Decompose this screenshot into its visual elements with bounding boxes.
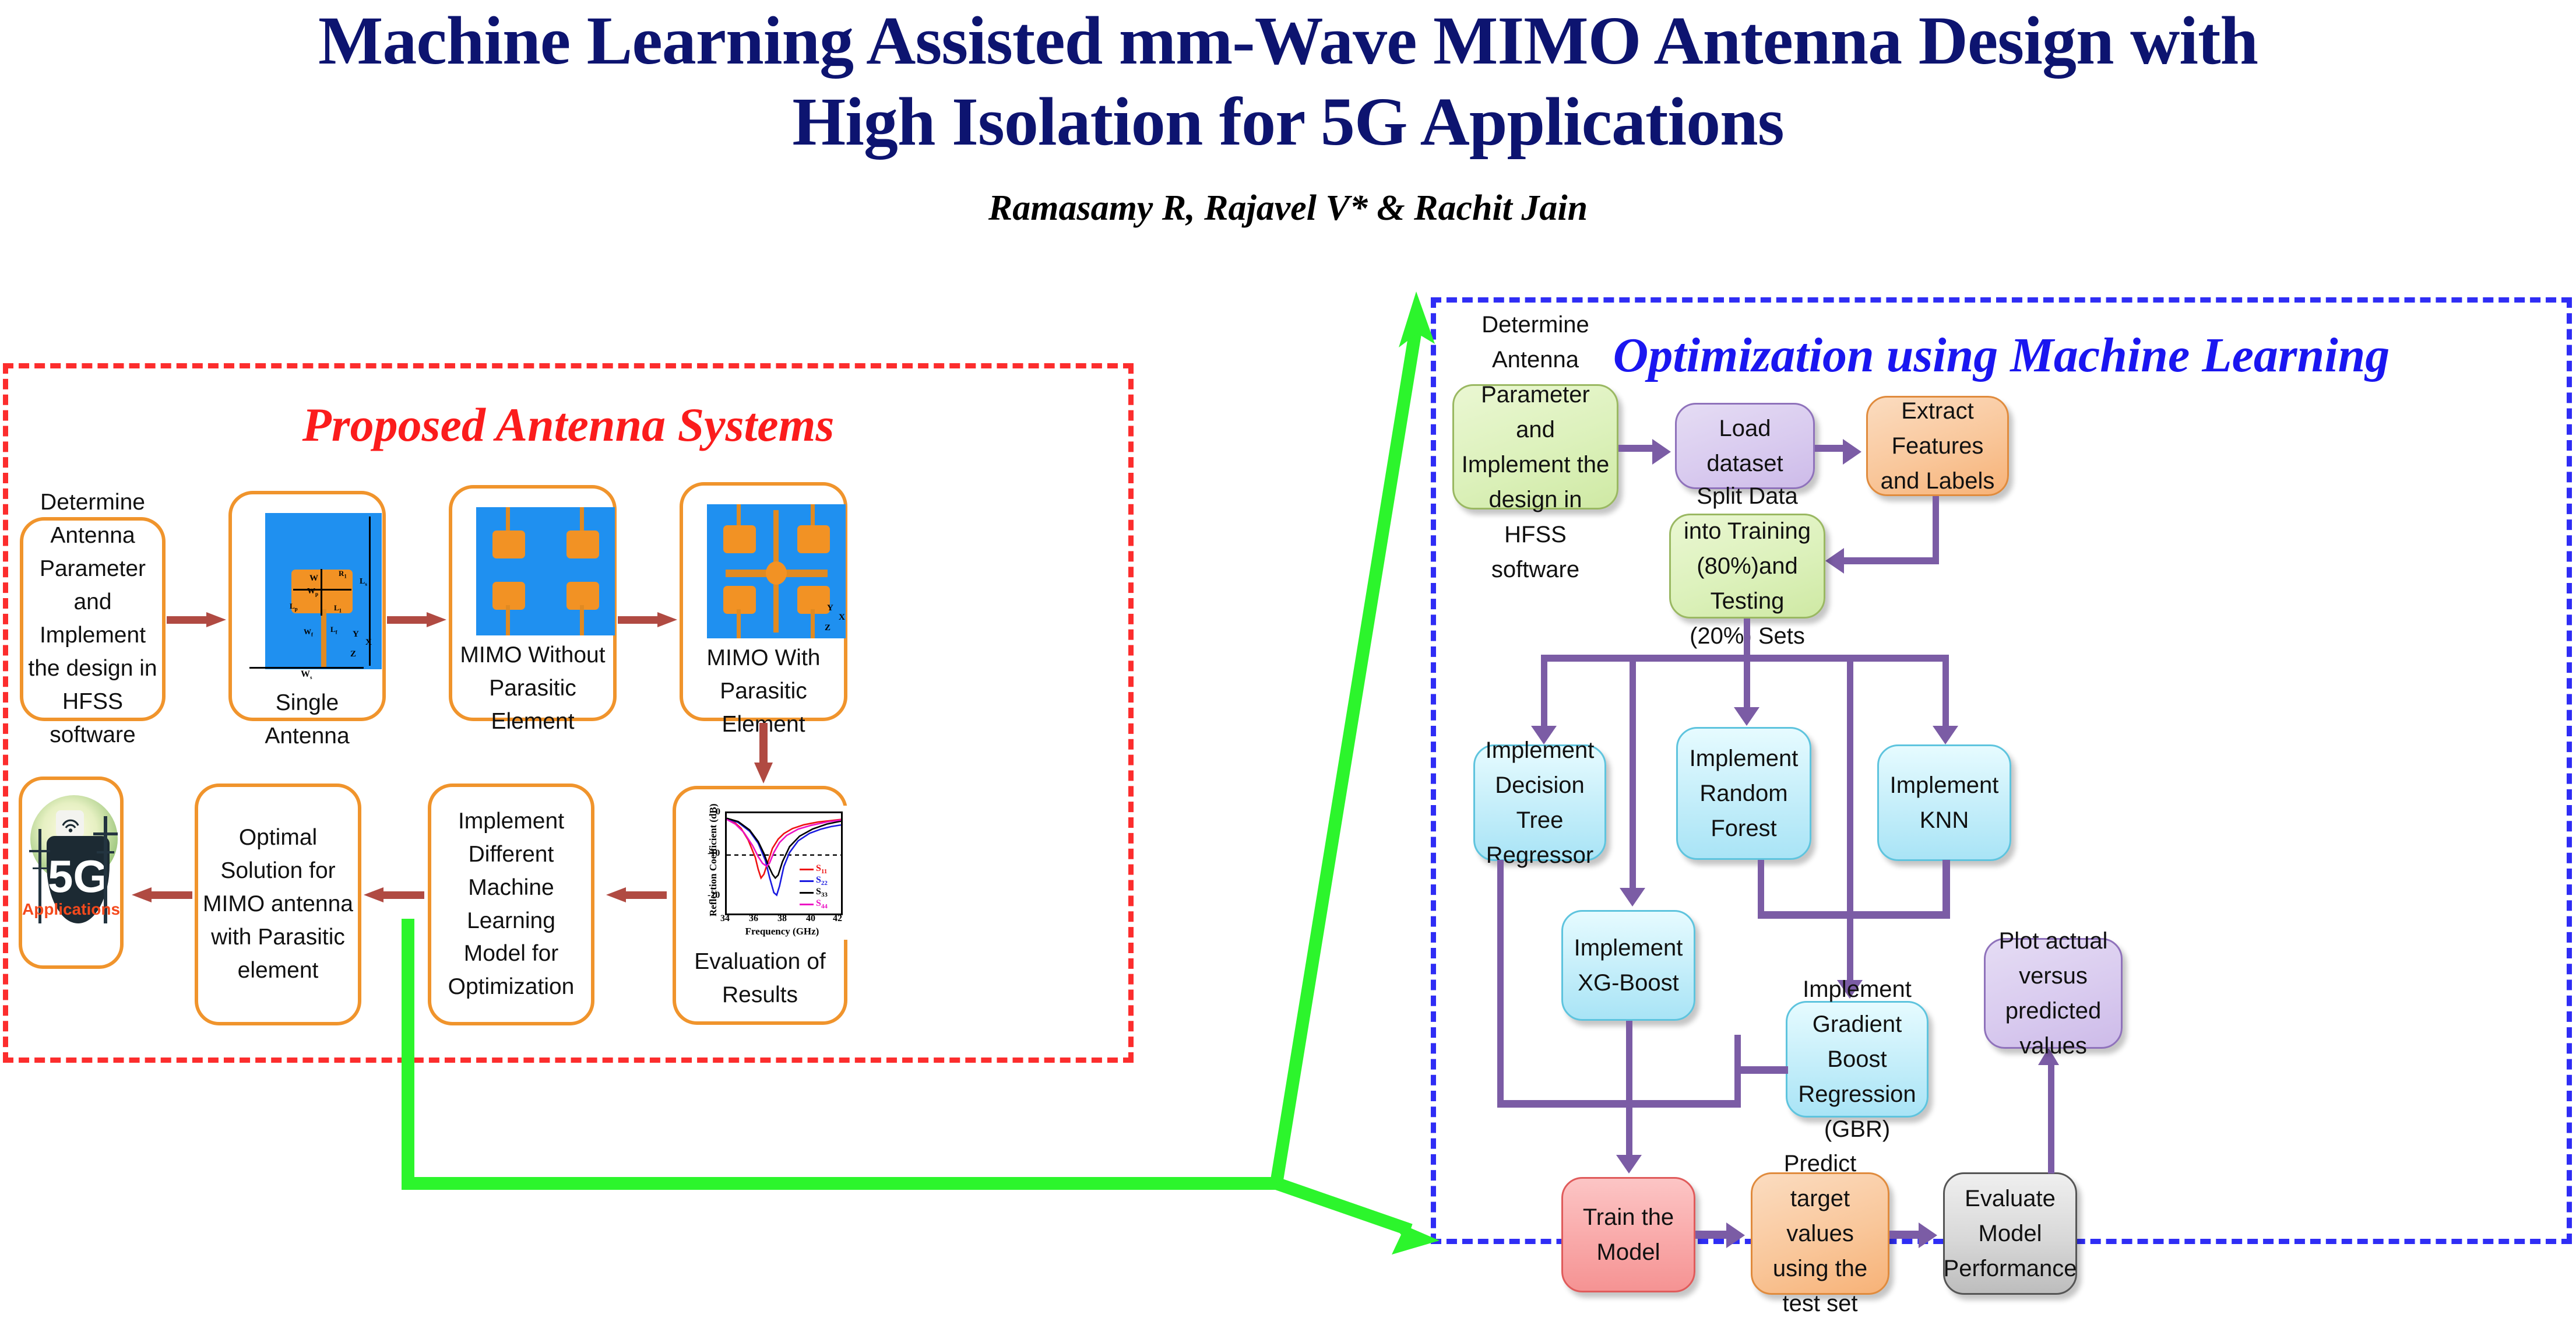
box-evaluation-of-results[interactable]: Reflection Coefficient (dB) Frequency (G… — [673, 786, 847, 1025]
title-line-2: High Isolation for 5G Applications — [0, 81, 2576, 162]
antenna-feedline — [321, 609, 326, 667]
legend-label-s33: S33 — [816, 887, 828, 898]
applications-text: Applications — [22, 900, 120, 919]
box-single-antenna[interactable]: W Wp R1 Lp L1 Wf Lf Ls Y X Z Ws Single A… — [228, 491, 386, 721]
box-determine-antenna[interactable]: Determine Antenna Parameter and Implemen… — [20, 517, 166, 721]
axis-label-x-2: X — [839, 613, 845, 623]
dim-label-w: W — [309, 574, 318, 584]
chart-ytick-m20: -20 — [708, 890, 720, 901]
chart-xtick-34: 34 — [720, 914, 730, 924]
dim-label-wp: Wp — [307, 587, 318, 597]
axis-label-z-2: Z — [825, 623, 830, 633]
box-gbr-label: Implement Gradient Boost Regression (GBR… — [1794, 972, 1920, 1147]
chart-xtick-38: 38 — [777, 914, 787, 924]
connector-rf-down — [1758, 860, 1764, 917]
connector-branch-gbr — [1847, 655, 1853, 983]
box-train-model-label: Train the Model — [1570, 1200, 1687, 1270]
arrow-to-train-model — [1616, 1155, 1642, 1174]
legend-swatch-s11 — [800, 869, 814, 870]
box-plot-actual[interactable]: Plot actual versus predicted values — [1984, 938, 2123, 1049]
box-determine-antenna-ml[interactable]: Determine Antenna Parameter and Implemen… — [1452, 384, 1618, 510]
box-extract-features[interactable]: Extract Features and Labels — [1866, 396, 2009, 496]
connector-gbr-bus-up — [1734, 1035, 1741, 1108]
arrow-branch-rf — [1734, 707, 1759, 726]
arrow-extract-to-split — [1825, 548, 1844, 574]
box-decision-tree[interactable]: Implement Decision Tree Regressor — [1473, 744, 1606, 861]
arrow-train-to-predict — [1726, 1222, 1745, 1248]
dim-label-ws: Ws — [301, 669, 312, 680]
optimization-using-ml-panel: Optimization using Machine Learning Dete… — [1431, 297, 2572, 1244]
box-determine-antenna-label: Determine Antenna Parameter and Implemen… — [28, 486, 157, 752]
box-random-forest[interactable]: Implement Random Forest — [1676, 727, 1811, 860]
arrow-determine-to-load — [1652, 439, 1671, 465]
box-xgboost-label: Implement XG-Boost — [1570, 930, 1687, 1000]
arrow-branch-xgb — [1620, 888, 1645, 907]
connector-predict-to-evaluate — [1889, 1231, 1920, 1239]
arrow-mimo-without-to-with — [618, 612, 678, 627]
box-mimo-without-label: MIMO Without Parasitic Element — [452, 639, 613, 739]
box-single-antenna-label: Single Antenna — [232, 687, 382, 753]
dim-label-l1: L1 — [334, 603, 342, 614]
connector-branch-xgb — [1630, 655, 1636, 891]
box-split-data[interactable]: Split Data into Training (80%)and Testin… — [1669, 514, 1825, 619]
connector-extract-left — [1844, 557, 1939, 564]
box-mimo-with-parasitic[interactable]: Y X Z MIMO With Parasitic Element — [680, 482, 847, 721]
connector-xgb-down — [1626, 1021, 1632, 1160]
connector-gbr-left-in — [1734, 1066, 1788, 1074]
arrow-load-to-extract — [1843, 439, 1861, 465]
author-line: Ramasamy R, Rajavel V* & Rachit Jain — [0, 188, 2576, 229]
arrow-mimo-with-to-evaluation — [754, 723, 773, 784]
single-antenna-substrate: W Wp R1 Lp L1 Wf Lf Ls Y X Z — [265, 513, 382, 669]
left-panel-heading: Proposed Antenna Systems — [8, 398, 1128, 452]
box-determine-antenna-ml-label: Determine Antenna Parameter and Implemen… — [1461, 307, 1610, 587]
box-implement-ml-model[interactable]: Implement Different Machine Learning Mod… — [428, 784, 594, 1025]
axis-label-x: X — [365, 638, 372, 648]
connector-determine-to-load — [1618, 445, 1653, 452]
chart-x-axis-label: Frequency (GHz) — [725, 926, 839, 937]
s-parameter-chart: Reflection Coefficient (dB) Frequency (G… — [691, 806, 847, 940]
connector-evaluate-up — [2048, 1064, 2054, 1174]
connector-knn-down — [1942, 860, 1950, 917]
box-optimal-solution-label: Optimal Solution for MIMO antenna with P… — [203, 821, 353, 988]
connector-knn-bus — [1758, 911, 1950, 919]
legend-swatch-s44 — [800, 904, 814, 905]
green-arrowhead-up — [1399, 291, 1435, 347]
title-line-1: Machine Learning Assisted mm-Wave MIMO A… — [0, 0, 2576, 81]
connector-train-to-predict — [1695, 1231, 1727, 1239]
chart-xtick-40: 40 — [806, 914, 815, 924]
connector-load-to-extract — [1815, 445, 1844, 452]
5g-text: 5G — [47, 853, 110, 899]
legend-label-s22: S22 — [816, 875, 828, 887]
arrow-optimal-to-5g — [132, 887, 192, 902]
arrow-predict-to-evaluate — [1919, 1222, 1937, 1248]
box-optimal-solution[interactable]: Optimal Solution for MIMO antenna with P… — [195, 784, 361, 1025]
legend-swatch-s22 — [800, 880, 814, 882]
chart-ytick-m10: -10 — [708, 848, 720, 859]
proposed-antenna-systems-panel: Proposed Antenna Systems Determine Anten… — [3, 363, 1134, 1063]
mimo-without-substrate — [476, 507, 615, 635]
box-evaluate-model-label: Evaluate Model Performance — [1944, 1181, 2077, 1286]
box-5g-applications[interactable]: 5G Applications — [19, 777, 124, 969]
axis-label-y: Y — [353, 630, 359, 640]
box-evaluation-label: Evaluation of Results — [676, 946, 844, 1012]
connector-branch-knn — [1942, 655, 1949, 729]
connector-branch-rf — [1744, 655, 1750, 711]
arrow-branch-knn — [1933, 726, 1958, 744]
green-path-up — [1276, 326, 1416, 1183]
arrow-single-to-mimo-without — [387, 612, 448, 627]
connector-split-down — [1744, 619, 1750, 658]
axis-label-y-2: Y — [827, 603, 833, 613]
connector-extract-down — [1933, 496, 1939, 564]
page-title: Machine Learning Assisted mm-Wave MIMO A… — [0, 0, 2576, 162]
connector-dt-down — [1497, 860, 1504, 1105]
green-path-down — [1276, 1183, 1410, 1230]
box-implement-ml-label: Implement Different Machine Learning Mod… — [436, 805, 586, 1004]
arrow-implement-ml-to-optimal — [364, 887, 424, 902]
connector-branch-dt — [1541, 655, 1547, 729]
box-train-model[interactable]: Train the Model — [1561, 1177, 1695, 1292]
legend-label-s11: S11 — [816, 863, 827, 875]
chart-xtick-42: 42 — [833, 914, 842, 924]
box-predict-target[interactable]: Predict target values using the test set — [1751, 1172, 1889, 1295]
chart-xtick-36: 36 — [749, 914, 758, 924]
box-knn[interactable]: Implement KNN — [1877, 744, 2011, 861]
box-knn-label: Implement KNN — [1886, 768, 2003, 838]
connector-bottom-bus — [1497, 1100, 1735, 1108]
legend-label-s44: S44 — [816, 898, 828, 910]
box-extract-features-label: Extract Features and Labels — [1875, 394, 2000, 498]
dim-label-lf: Lf — [330, 625, 337, 635]
arrow-determine-to-single — [167, 612, 227, 627]
box-load-dataset-label: Load dataset — [1684, 411, 1806, 481]
box-mimo-without-parasitic[interactable]: MIMO Without Parasitic Element — [449, 485, 617, 721]
dim-label-lp: Lp — [290, 602, 298, 612]
5g-applications-image: 5G Applications — [22, 780, 120, 965]
axis-label-z: Z — [350, 649, 356, 659]
arrow-evaluation-to-implement-ml — [606, 887, 667, 902]
box-random-forest-label: Implement Random Forest — [1685, 741, 1803, 846]
box-load-dataset[interactable]: Load dataset — [1675, 403, 1815, 489]
dim-label-ls: Ls — [360, 577, 367, 587]
wifi-waves-icon — [61, 815, 80, 832]
dim-label-wf: Wf — [304, 627, 313, 638]
box-decision-tree-label: Implement Decision Tree Regressor — [1482, 733, 1597, 873]
chart-ytick-0: 0 — [716, 807, 720, 817]
legend-swatch-s33 — [800, 892, 814, 894]
box-gbr[interactable]: Implement Gradient Boost Regression (GBR… — [1786, 1001, 1929, 1118]
box-predict-target-label: Predict target values using the test set — [1759, 1146, 1881, 1321]
box-xgboost[interactable]: Implement XG-Boost — [1561, 910, 1695, 1021]
box-plot-actual-label: Plot actual versus predicted values — [1993, 923, 2114, 1063]
mimo-with-substrate: Y X Z — [707, 504, 846, 638]
box-evaluate-model[interactable]: Evaluate Model Performance — [1943, 1172, 2077, 1295]
dim-label-r1: R1 — [339, 569, 347, 579]
